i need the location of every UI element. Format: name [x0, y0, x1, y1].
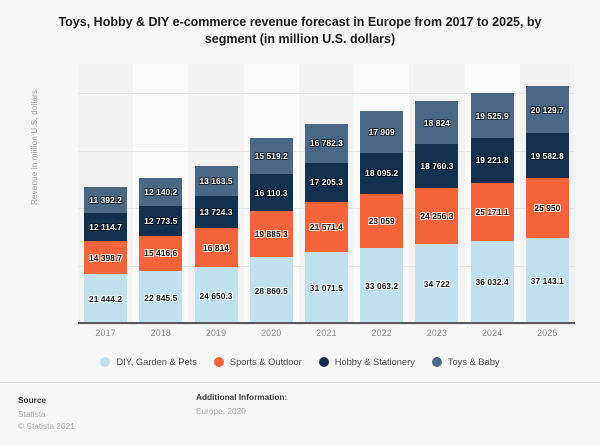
additional-info-line: Europe; 2020: [196, 405, 287, 417]
bar-value-label: 12 114.7: [89, 222, 122, 232]
bar-segment[interactable]: 25 950: [526, 178, 569, 238]
bar-segment[interactable]: 23 059: [360, 194, 403, 247]
bar-value-label: 15 519.2: [255, 151, 288, 161]
x-tick-label: 2019: [188, 328, 243, 344]
bar-segment[interactable]: 15 416.6: [139, 236, 182, 272]
bar-value-label: 19 582.8: [531, 151, 564, 161]
x-tick-label: 2023: [409, 328, 464, 344]
bar-stack: 17 90918 095.223 05933 063.2: [360, 111, 403, 324]
bar-value-label: 16 814: [203, 243, 229, 253]
bar-column[interactable]: 20 129.719 582.825 95037 143.1: [520, 64, 575, 324]
bar-value-label: 25 171.1: [476, 207, 509, 217]
bar-segment[interactable]: 24 256.3: [415, 188, 458, 244]
bar-value-label: 13 163.5: [199, 176, 232, 186]
bar-value-label: 15 416.6: [144, 248, 177, 258]
bar-stack: 20 129.719 582.825 95037 143.1: [526, 86, 569, 324]
bar-stack: 16 782.317 205.321 571.431 071.5: [305, 124, 348, 324]
bar-value-label: 28 860.5: [255, 286, 288, 296]
bar-value-label: 19 221.8: [476, 155, 509, 165]
bar-value-label: 17 909: [369, 127, 395, 137]
bar-segment[interactable]: 19 582.8: [526, 133, 569, 178]
bar-stack: 12 140.212 773.515 416.622 845.5: [139, 178, 182, 324]
bar-segment[interactable]: 13 724.3: [195, 196, 238, 228]
bar-segment[interactable]: 15 519.2: [250, 138, 293, 174]
bar-value-label: 11 392.2: [89, 195, 122, 205]
x-tick-label: 2025: [520, 328, 575, 344]
bar-segment[interactable]: 19 525.9: [471, 93, 514, 138]
bar-value-label: 18 824: [424, 118, 450, 128]
bar-segment[interactable]: 17 205.3: [305, 163, 348, 203]
bar-stack: 13 163.513 724.316 81424 650.3: [195, 166, 238, 324]
bar-value-label: 12 773.5: [144, 216, 177, 226]
bar-stack: 19 525.919 221.825 171.136 032.4: [471, 93, 514, 324]
bar-value-label: 22 845.5: [144, 293, 177, 303]
legend-swatch-icon: [432, 357, 442, 367]
bar-series-group: 11 392.212 114.714 398.721 444.212 140.2…: [78, 64, 575, 324]
bar-value-label: 14 398.7: [89, 253, 122, 263]
x-tick-label: 2020: [244, 328, 299, 344]
bar-value-label: 37 143.1: [531, 276, 564, 286]
bar-segment[interactable]: 17 909: [360, 111, 403, 152]
additional-info-block: Additional Information: Europe; 2020: [196, 392, 287, 417]
bar-value-label: 19 525.9: [476, 111, 509, 121]
bar-segment[interactable]: 34 722: [415, 244, 458, 324]
gridline: [78, 324, 575, 325]
bar-segment[interactable]: 19 885.3: [250, 211, 293, 257]
bar-segment[interactable]: 37 143.1: [526, 238, 569, 324]
bar-segment[interactable]: 21 444.2: [84, 274, 127, 324]
y-axis-label: Revenue in million U.S. dollars: [30, 90, 39, 205]
bar-segment[interactable]: 33 063.2: [360, 248, 403, 324]
x-axis-line: [78, 322, 575, 324]
chart-plot-area: 025 00050 00075 000100 000 11 392.212 11…: [78, 64, 575, 324]
bar-stack: 18 82418 760.324 256.334 722: [415, 101, 458, 324]
bar-segment[interactable]: 12 773.5: [139, 206, 182, 236]
legend-item[interactable]: Hobby & Stationery: [319, 357, 415, 367]
bar-value-label: 18 095.2: [365, 168, 398, 178]
bar-value-label: 12 140.2: [144, 187, 177, 197]
bar-value-label: 18 760.3: [420, 161, 453, 171]
page-title: Toys, Hobby & DIY e-commerce revenue for…: [40, 14, 560, 48]
bar-value-label: 21 444.2: [89, 294, 122, 304]
bar-segment[interactable]: 19 221.8: [471, 138, 514, 182]
legend-item[interactable]: Sports & Outdoor: [214, 357, 302, 367]
bar-segment[interactable]: 24 650.3: [195, 267, 238, 324]
bar-column[interactable]: 16 782.317 205.321 571.431 071.5: [299, 64, 354, 324]
bar-column[interactable]: 19 525.919 221.825 171.136 032.4: [465, 64, 520, 324]
bar-value-label: 24 256.3: [420, 211, 453, 221]
bar-value-label: 34 722: [424, 279, 450, 289]
bar-column[interactable]: 15 519.216 110.319 885.328 860.5: [244, 64, 299, 324]
legend-item[interactable]: DIY, Garden & Pets: [100, 357, 196, 367]
bar-value-label: 23 059: [369, 216, 395, 226]
bar-segment[interactable]: 28 860.5: [250, 257, 293, 324]
bar-segment[interactable]: 16 814: [195, 228, 238, 267]
legend-label: DIY, Garden & Pets: [116, 357, 196, 367]
bar-segment[interactable]: 20 129.7: [526, 86, 569, 133]
footer: Source Statista © Statista 2021 Addition…: [0, 383, 600, 445]
source-heading: Source: [18, 395, 75, 405]
bar-stack: 15 519.216 110.319 885.328 860.5: [250, 138, 293, 324]
legend-swatch-icon: [100, 357, 110, 367]
x-tick-label: 2021: [299, 328, 354, 344]
bar-column[interactable]: 13 163.513 724.316 81424 650.3: [188, 64, 243, 324]
bar-segment[interactable]: 21 571.4: [305, 202, 348, 252]
bar-segment[interactable]: 12 114.7: [84, 213, 127, 241]
x-tick-label: 2017: [78, 328, 133, 344]
bar-value-label: 21 571.4: [310, 222, 343, 232]
bar-value-label: 33 063.2: [365, 281, 398, 291]
legend-swatch-icon: [319, 357, 329, 367]
x-tick-label: 2022: [354, 328, 409, 344]
bar-column[interactable]: 17 90918 095.223 05933 063.2: [354, 64, 409, 324]
bar-segment[interactable]: 22 845.5: [139, 271, 182, 324]
legend-label: Hobby & Stationery: [335, 357, 415, 367]
bar-stack: 11 392.212 114.714 398.721 444.2: [84, 187, 127, 324]
bar-segment[interactable]: 18 095.2: [360, 153, 403, 195]
bar-value-label: 16 782.3: [310, 138, 343, 148]
bar-segment[interactable]: 18 824: [415, 101, 458, 145]
bar-segment[interactable]: 25 171.1: [471, 183, 514, 241]
bar-value-label: 17 205.3: [310, 177, 343, 187]
legend-label: Toys & Baby: [448, 357, 500, 367]
legend-swatch-icon: [214, 357, 224, 367]
bar-value-label: 25 950: [534, 203, 560, 213]
chart-legend: DIY, Garden & PetsSports & OutdoorHobby …: [60, 352, 540, 372]
bar-segment[interactable]: 13 163.5: [195, 166, 238, 196]
bar-value-label: 20 129.7: [531, 105, 564, 115]
source-line: Statista: [18, 408, 75, 420]
bar-segment[interactable]: 14 398.7: [84, 241, 127, 274]
bar-column[interactable]: 12 140.212 773.515 416.622 845.5: [133, 64, 188, 324]
bar-value-label: 31 071.5: [310, 283, 343, 293]
source-block: Source Statista © Statista 2021: [18, 395, 75, 432]
bar-segment[interactable]: 16 782.3: [305, 124, 348, 163]
bar-segment[interactable]: 36 032.4: [471, 241, 514, 324]
bar-segment[interactable]: 11 392.2: [84, 187, 127, 213]
bar-segment[interactable]: 31 071.5: [305, 252, 348, 324]
legend-item[interactable]: Toys & Baby: [432, 357, 500, 367]
copyright-line: © Statista 2021: [18, 420, 75, 432]
bar-column[interactable]: 18 82418 760.324 256.334 722: [409, 64, 464, 324]
x-tick-label: 2018: [133, 328, 188, 344]
bar-segment[interactable]: 12 140.2: [139, 178, 182, 206]
bar-value-label: 16 110.3: [255, 188, 288, 198]
bar-column[interactable]: 11 392.212 114.714 398.721 444.2: [78, 64, 133, 324]
bar-segment[interactable]: 16 110.3: [250, 174, 293, 211]
bar-value-label: 19 885.3: [255, 229, 288, 239]
bar-segment[interactable]: 18 760.3: [415, 144, 458, 187]
x-axis-labels: 201720182019202020212022202320242025: [78, 328, 575, 344]
bar-value-label: 36 032.4: [476, 277, 509, 287]
legend-label: Sports & Outdoor: [230, 357, 302, 367]
bar-value-label: 24 650.3: [199, 291, 232, 301]
additional-info-heading: Additional Information:: [196, 392, 287, 402]
bar-value-label: 13 724.3: [199, 207, 232, 217]
x-tick-label: 2024: [465, 328, 520, 344]
